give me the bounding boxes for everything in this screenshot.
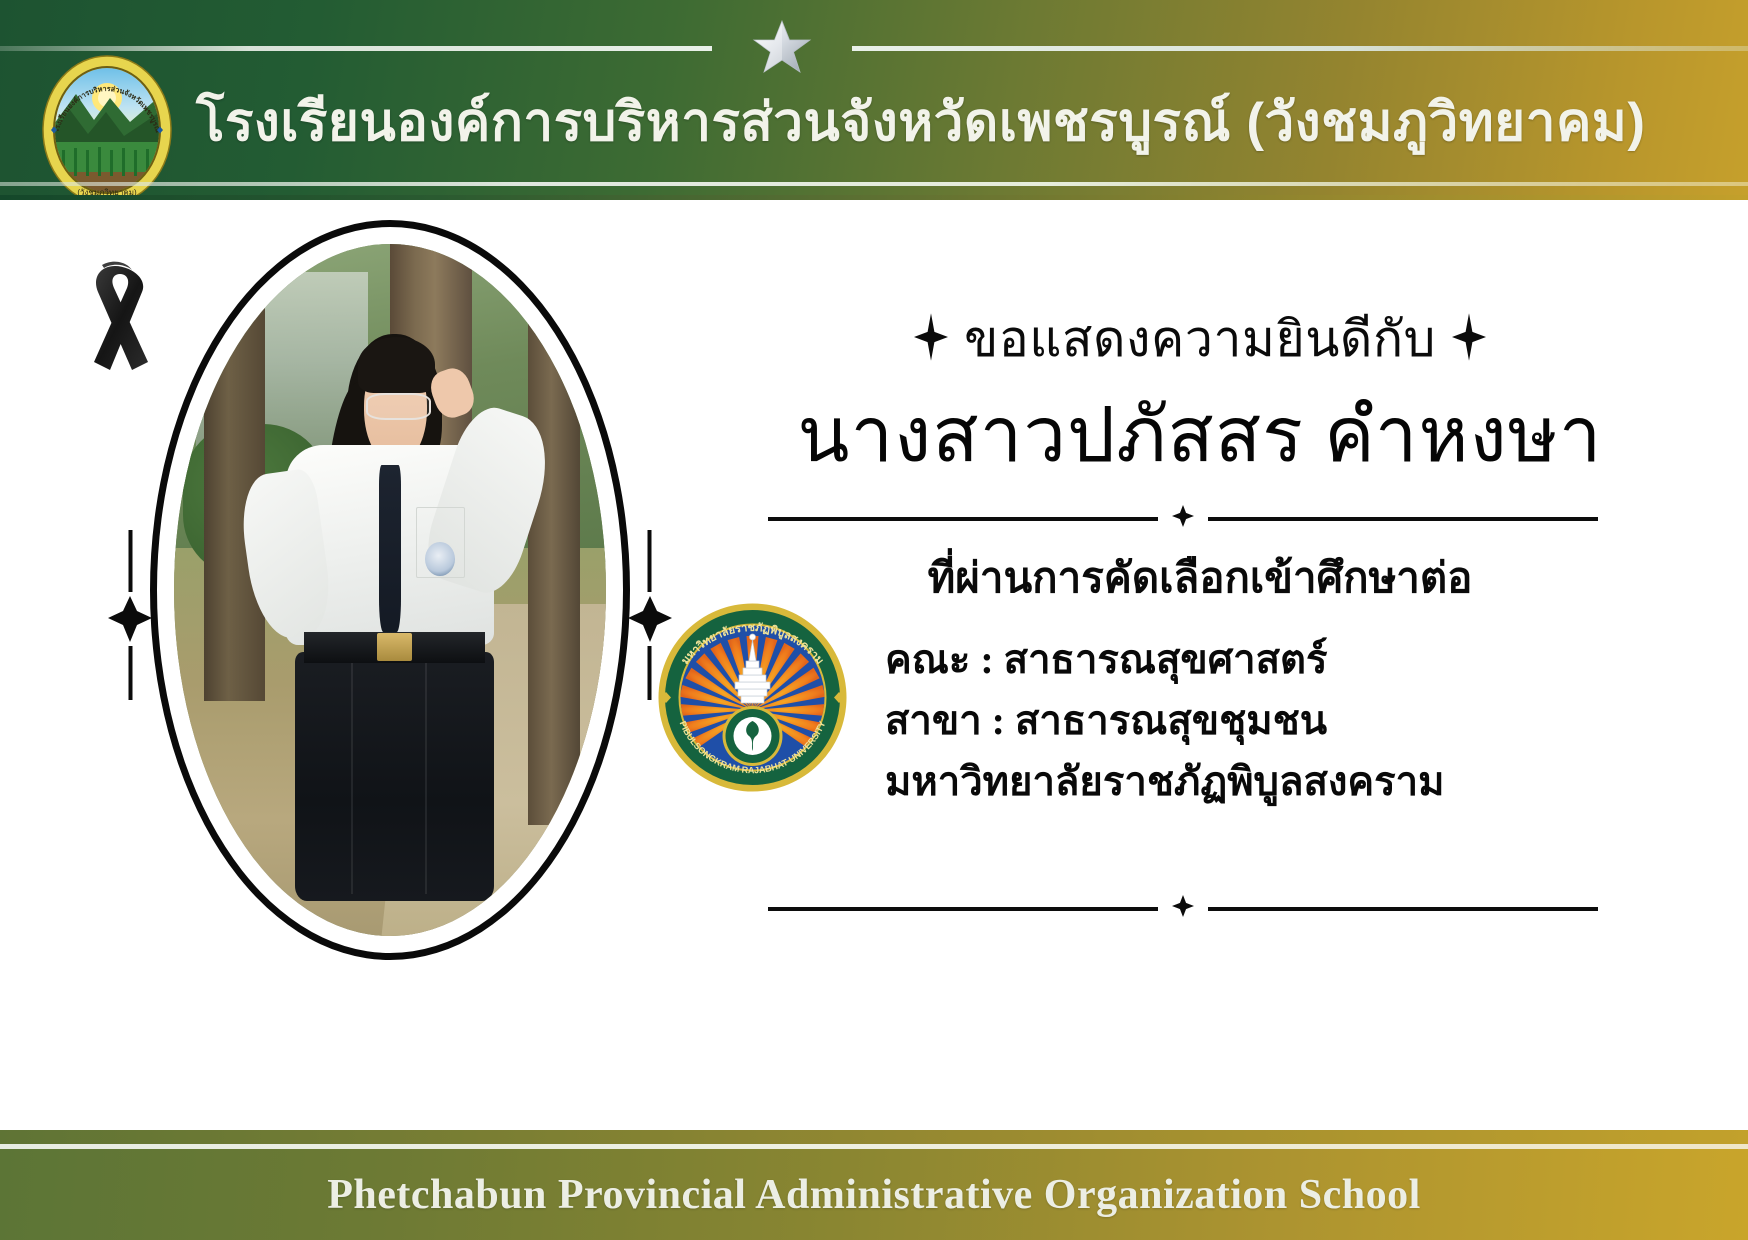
divider-line xyxy=(1208,517,1598,521)
detail-university: มหาวิทยาลัยราชภัฏพิบูลสงคราม xyxy=(885,752,1705,813)
black-ribbon-icon xyxy=(70,250,160,380)
detail-major: สาขา : สาธารณสุขชุมชน xyxy=(885,691,1705,752)
star-icon xyxy=(752,18,812,78)
poster-header: โรงเรียนองค์การบริหารส่วนจังหวัดเพชรบูรณ… xyxy=(0,0,1748,200)
page-title: โรงเรียนองค์การบริหารส่วนจังหวัดเพชรบูรณ… xyxy=(196,96,1736,149)
divider-top xyxy=(768,505,1598,532)
school-seal-logo: โรงเรียนองค์การบริหารส่วนจังหวัดเพชรบูรณ… xyxy=(40,54,174,200)
divider-bottom xyxy=(768,895,1598,922)
poster-body: ขอแสดงความยินดีกับ นางสาวปภัสสร คำหงษา xyxy=(0,200,1748,1130)
student-photo-frame xyxy=(150,220,630,960)
four-point-star-icon xyxy=(1452,311,1486,368)
pibulsongkram-university-seal-icon: มหาวิทยาลัยราชภัฏพิบูลสงคราม PIBULSONGKR… xyxy=(655,600,850,795)
congratulation-poster: โรงเรียนองค์การบริหารส่วนจังหวัดเพชรบูรณ… xyxy=(0,0,1748,1240)
footer-accent-band xyxy=(0,1130,1748,1144)
admission-details: คณะ : สาธารณสุขศาสตร์ สาขา : สาธารณสุขชุ… xyxy=(885,630,1705,812)
header-rule-left xyxy=(0,46,712,51)
divider-line xyxy=(768,907,1158,911)
footer-school-name: Phetchabun Provincial Administrative Org… xyxy=(327,1171,1421,1219)
congratulations-row: ขอแสดงความยินดีกับ xyxy=(690,300,1710,379)
poster-footer: Phetchabun Provincial Administrative Org… xyxy=(0,1149,1748,1240)
divider-line xyxy=(768,517,1158,521)
diamond-icon xyxy=(1172,505,1194,532)
detail-faculty: คณะ : สาธารณสุขศาสตร์ xyxy=(885,630,1705,691)
divider-line xyxy=(1208,907,1598,911)
congratulations-text: ขอแสดงความยินดีกับ xyxy=(964,300,1436,379)
student-name: นางสาวปภัสสร คำหงษา xyxy=(690,375,1710,495)
header-bottom-rule xyxy=(0,182,1748,186)
photo-oval-outline xyxy=(150,220,630,960)
diamond-icon xyxy=(1172,895,1194,922)
header-rule-right xyxy=(852,46,1748,51)
four-point-star-icon xyxy=(108,530,152,700)
announcement-text-column: ขอแสดงความยินดีกับ นางสาวปภัสสร คำหงษา xyxy=(690,200,1710,1130)
four-point-star-icon xyxy=(914,311,948,368)
